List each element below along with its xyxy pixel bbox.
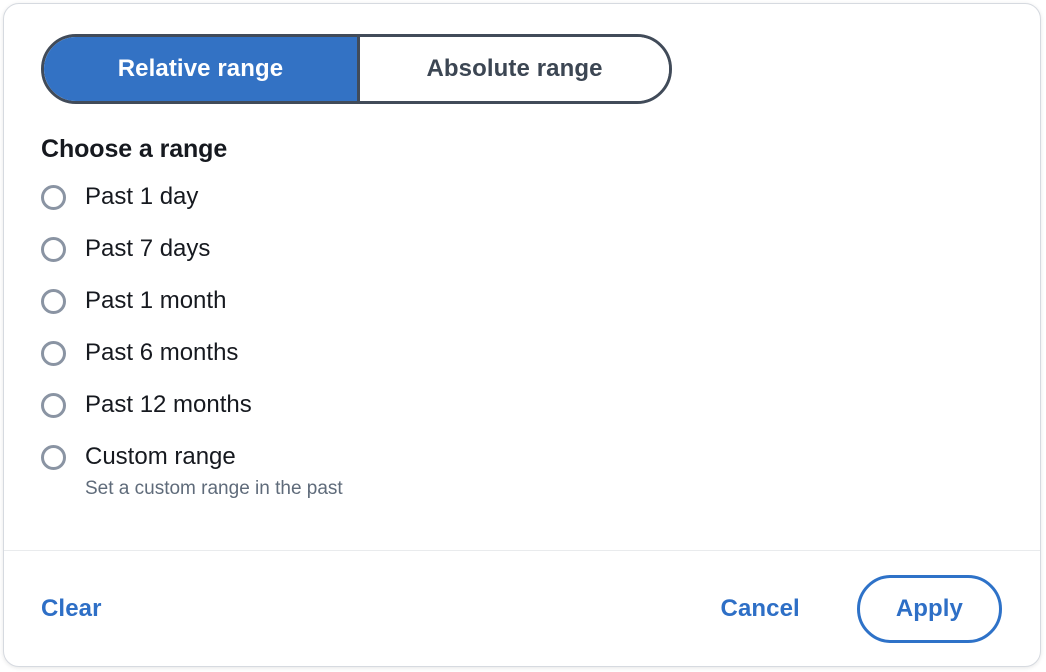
dialog-footer: Clear Cancel Apply bbox=[4, 551, 1040, 667]
radio-option-label: Past 1 month bbox=[85, 286, 226, 316]
radio-option-texts: Past 12 months bbox=[85, 390, 252, 420]
radio-option-texts: Past 6 months bbox=[85, 338, 238, 368]
page-title: Choose a range bbox=[41, 135, 227, 164]
range-mode-segmented-control[interactable]: Relative range Absolute range bbox=[41, 34, 672, 104]
radio-option-past-6-months[interactable]: Past 6 months bbox=[41, 338, 941, 390]
radio-option-label: Past 1 day bbox=[85, 182, 198, 212]
date-range-picker-card: Relative range Absolute range Choose a r… bbox=[3, 3, 1041, 667]
radio-option-past-12-months[interactable]: Past 12 months bbox=[41, 390, 941, 442]
footer-left-actions: Clear bbox=[41, 595, 102, 623]
radio-option-texts: Past 1 month bbox=[85, 286, 226, 316]
radio-circle-icon[interactable] bbox=[41, 393, 66, 418]
apply-button[interactable]: Apply bbox=[857, 575, 1002, 643]
footer-right-actions: Cancel Apply bbox=[721, 575, 1002, 643]
radio-option-texts: Custom range Set a custom range in the p… bbox=[85, 442, 343, 502]
radio-circle-icon[interactable] bbox=[41, 445, 66, 470]
radio-option-label: Past 12 months bbox=[85, 390, 252, 420]
radio-option-label: Past 7 days bbox=[85, 234, 210, 264]
radio-option-label: Past 6 months bbox=[85, 338, 238, 368]
radio-circle-icon[interactable] bbox=[41, 237, 66, 262]
radio-option-texts: Past 1 day bbox=[85, 182, 198, 212]
radio-option-past-7-days[interactable]: Past 7 days bbox=[41, 234, 941, 286]
radio-circle-icon[interactable] bbox=[41, 289, 66, 314]
tab-absolute-range[interactable]: Absolute range bbox=[360, 37, 669, 101]
radio-option-label: Custom range bbox=[85, 442, 343, 472]
radio-circle-icon[interactable] bbox=[41, 185, 66, 210]
relative-range-radio-group[interactable]: Past 1 day Past 7 days Past 1 month Past… bbox=[41, 182, 941, 514]
tab-relative-range[interactable]: Relative range bbox=[44, 37, 360, 101]
radio-circle-icon[interactable] bbox=[41, 341, 66, 366]
radio-option-custom-range[interactable]: Custom range Set a custom range in the p… bbox=[41, 442, 941, 514]
radio-option-description: Set a custom range in the past bbox=[85, 476, 343, 502]
cancel-button[interactable]: Cancel bbox=[721, 595, 800, 623]
radio-option-past-1-day[interactable]: Past 1 day bbox=[41, 182, 941, 234]
clear-button[interactable]: Clear bbox=[41, 595, 102, 623]
radio-option-past-1-month[interactable]: Past 1 month bbox=[41, 286, 941, 338]
radio-option-texts: Past 7 days bbox=[85, 234, 210, 264]
